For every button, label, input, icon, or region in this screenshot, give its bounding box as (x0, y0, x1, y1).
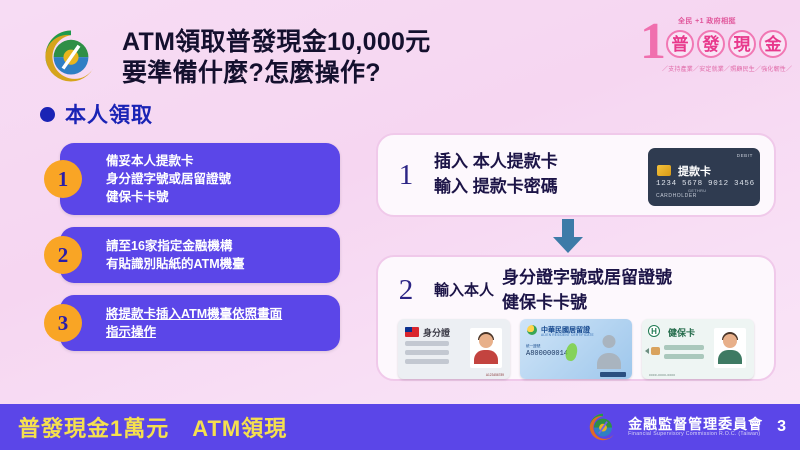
placeholder-body (597, 353, 621, 369)
id-cards-row: 身分證 A123456789 中華民國居留證 ALIEN RESIDENT CE… (378, 319, 774, 379)
campaign-numeral: 1 (640, 16, 666, 68)
nhi-chip-icon (651, 347, 660, 355)
residence-card-strip (600, 372, 626, 377)
panel-2-number: 2 (378, 274, 434, 307)
section-heading-label: 本人領取 (65, 99, 153, 129)
campaign-top-text: 全民 +1 政府相挺 (678, 16, 736, 26)
photo-body (474, 350, 498, 364)
residence-permit-subtitle: ALIEN RESIDENT CERTIFICATE (541, 333, 594, 337)
step-3-line-1: 將提款卡插入ATM機臺依照畫面 (106, 305, 328, 323)
placeholder-head (603, 335, 616, 348)
nhi-photo-body (718, 350, 742, 364)
step-card-3: 3 將提款卡插入ATM機臺依照畫面 指示操作 (60, 295, 340, 351)
atm-debit-card-image: DEBIT 提款卡 1234 5678 9012 3456 GETHRU CAR… (648, 148, 760, 206)
panel-2-prefix: 輸入本人 (434, 280, 494, 302)
footer-org-en: Financial Supervisory Commission R.O.C. … (628, 432, 763, 438)
fsc-emblem-icon (42, 27, 100, 85)
steps-list: 1 備妥本人提款卡 身分證字號或居留證號 健保卡卡號 2 請至16家指定金融機構… (60, 143, 340, 363)
step-number-3: 3 (44, 304, 82, 342)
footer-title: 普發現金1萬元 ATM領現 (18, 411, 287, 443)
card-number: 1234 5678 9012 3456 (656, 180, 755, 188)
card-chip-icon (657, 165, 671, 176)
nhi-photo-head (723, 334, 737, 348)
step-2-line-2: 有貼識別貼紙的ATM機臺 (106, 255, 328, 273)
national-id-title: 身分證 (423, 326, 450, 339)
footer-bar: 普發現金1萬元 ATM領現 金融監督管理委員會 Financial Superv… (0, 404, 800, 450)
title-line-2: 要準備什麼?怎麼操作? (122, 58, 642, 89)
down-arrow-icon (548, 219, 588, 255)
step-2-line-1: 請至16家指定金融機構 (106, 237, 328, 255)
roc-emblem-icon (527, 325, 537, 335)
national-id-number: A123456789 (486, 373, 504, 377)
card-holder-label: CARDHOLDER (656, 193, 697, 199)
page-title: ATM領取普發現金10,000元 要準備什麼?怎麼操作? (122, 27, 642, 88)
panel-2-line-2: 健保卡卡號 (502, 291, 672, 316)
residence-number-label: 統一證號 (526, 344, 540, 349)
step-3-line-2: 指示操作 (106, 323, 328, 341)
national-id-card-image: 身分證 A123456789 (398, 319, 510, 379)
panel-1-text: 插入 本人提款卡 輸入 提款卡密碼 (434, 150, 558, 199)
campaign-words: 普 發 現 金 (666, 30, 787, 58)
step-1-line-3: 健保卡卡號 (106, 188, 328, 206)
nhi-photo (714, 328, 746, 368)
title-line-1: ATM領取普發現金10,000元 (122, 28, 431, 56)
panel-2-line-1: 身分證字號或居留證號 (502, 268, 672, 287)
footer-org-names: 金融監督管理委員會 Financial Supervisory Commissi… (628, 416, 763, 438)
campaign-word-2: 發 (697, 30, 725, 58)
fsc-footer-emblem-icon (588, 412, 618, 442)
panel-1-number: 1 (378, 159, 434, 192)
campaign-word-3: 現 (728, 30, 756, 58)
panel-step-1: 1 插入 本人提款卡 輸入 提款卡密碼 DEBIT 提款卡 1234 5678 … (376, 133, 776, 217)
campaign-logo: 1 全民 +1 政府相挺 普 發 現 金 ／支持產業／安定就業／照顧民生／強化韌… (636, 8, 788, 86)
footer-org: 金融監督管理委員會 Financial Supervisory Commissi… (588, 412, 786, 442)
step-number-2: 2 (44, 236, 82, 274)
slide-root: ATM領取普發現金10,000元 要準備什麼?怎麼操作? 1 全民 +1 政府相… (0, 0, 800, 450)
card-name-label: 提款卡 (678, 163, 711, 179)
panel-1-line-2: 輸入 提款卡密碼 (434, 175, 558, 200)
panel-2-header-row: 2 輸入本人 身分證字號或居留證號 健保卡卡號 (378, 257, 774, 315)
panel-step-2: 2 輸入本人 身分證字號或居留證號 健保卡卡號 身分證 A123456789 (376, 255, 776, 381)
step-number-1: 1 (44, 160, 82, 198)
step-card-1: 1 備妥本人提款卡 身分證字號或居留證號 健保卡卡號 (60, 143, 340, 215)
step-1-line-1: 備妥本人提款卡 (106, 152, 328, 170)
campaign-word-1: 普 (666, 30, 694, 58)
step-1-line-2: 身分證字號或居留證號 (106, 170, 328, 188)
bullet-dot-icon (40, 107, 55, 122)
taiwan-flag-icon (405, 327, 419, 337)
footer-org-cn: 金融監督管理委員會 (628, 416, 763, 432)
nhi-card-title: 健保卡 (668, 326, 695, 339)
nhi-text-lines (664, 345, 704, 363)
step-card-2: 2 請至16家指定金融機構 有貼識別貼紙的ATM機臺 (60, 227, 340, 283)
residence-photo-placeholder (596, 335, 622, 369)
nhi-card-number: 0000-0000-0000 (649, 373, 675, 377)
campaign-word-4: 金 (759, 30, 787, 58)
section-heading: 本人領取 (40, 99, 153, 129)
nhi-card-image: H 健保卡 0000-0000-0000 (642, 319, 754, 379)
nhi-h-logo-icon: H (648, 325, 660, 337)
photo-head (479, 334, 493, 348)
panel-2-text: 身分證字號或居留證號 健保卡卡號 (502, 266, 672, 315)
national-id-text-lines (405, 341, 449, 368)
panel-1-line-1: 插入 本人提款卡 (434, 152, 558, 171)
residence-permit-card-image: 中華民國居留證 ALIEN RESIDENT CERTIFICATE 統一證號 … (520, 319, 632, 379)
residence-id-number: A800000014 (526, 350, 568, 358)
leaf-decoration-icon (564, 342, 579, 362)
card-brand-label: DEBIT (737, 153, 753, 158)
national-id-photo (470, 328, 502, 368)
nhi-arrow-icon (645, 348, 649, 354)
page-number: 3 (777, 418, 786, 436)
campaign-bottom-text: ／支持產業／安定就業／照顧民生／強化韌性／ (662, 64, 792, 73)
